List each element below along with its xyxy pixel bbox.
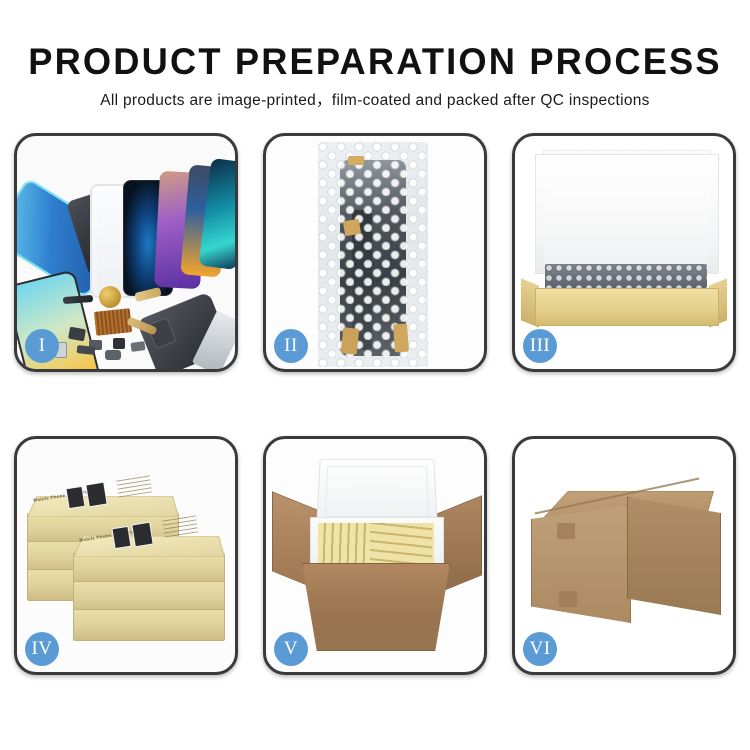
carton-tape-2 (559, 591, 577, 607)
small-part-7 (105, 350, 121, 360)
small-part-3 (113, 338, 125, 349)
box-screen-photo-b1 (111, 526, 131, 549)
packed-yellow-boxes-2 (370, 523, 432, 567)
box-screen-photo-a1 (65, 486, 85, 509)
step-panel-5: V (263, 436, 487, 675)
page-subtitle: All products are image-printed，film-coat… (0, 91, 750, 111)
bubble-wrap-bag (318, 142, 428, 367)
step-badge-3: III (523, 329, 557, 363)
step-panel-2: II (263, 133, 487, 372)
foam-sheet (545, 184, 709, 268)
box-stack: Mobile Phone Spare Parts Mobile Phone Sp… (21, 453, 233, 659)
carton-side-face (627, 497, 721, 615)
bubble-texture (318, 142, 428, 367)
box-screen-photo-a2 (85, 482, 107, 508)
header: PRODUCT PREPARATION PROCESS All products… (0, 0, 750, 111)
tape-2 (343, 219, 361, 237)
step-panel-4: Mobile Phone Spare Parts Mobile Phone Sp… (14, 436, 238, 675)
carton-tape-1 (557, 523, 575, 539)
box-spec-lines-b (162, 512, 199, 537)
step-panel-1: I (14, 133, 238, 372)
speaker-module (63, 295, 93, 304)
tape-1 (348, 156, 364, 165)
box-screen-photo-b2 (131, 522, 153, 548)
tape-3 (341, 327, 360, 355)
tape-4 (393, 324, 409, 353)
small-part-4 (130, 341, 145, 352)
step-badge-4: IV (25, 632, 59, 666)
gold-component (99, 286, 121, 308)
product-preparation-infographic: PRODUCT PREPARATION PROCESS All products… (0, 0, 750, 750)
foam-lid (316, 459, 438, 526)
step-badge-1: I (25, 329, 59, 363)
inner-box-front (535, 288, 719, 326)
page-title: PRODUCT PREPARATION PROCESS (8, 41, 743, 83)
stacked-box-1 (73, 609, 225, 641)
step-badge-5: V (274, 632, 308, 666)
step-badge-6: VI (523, 632, 557, 666)
step-panel-6: VI (512, 436, 736, 675)
step-panel-3: III (512, 133, 736, 372)
small-part-1 (68, 327, 86, 342)
box-spec-lines-a (116, 472, 153, 497)
carton-front-face (531, 505, 631, 623)
step-badge-2: II (274, 329, 308, 363)
process-step-grid: I II (14, 133, 736, 678)
carton-body (302, 563, 450, 651)
